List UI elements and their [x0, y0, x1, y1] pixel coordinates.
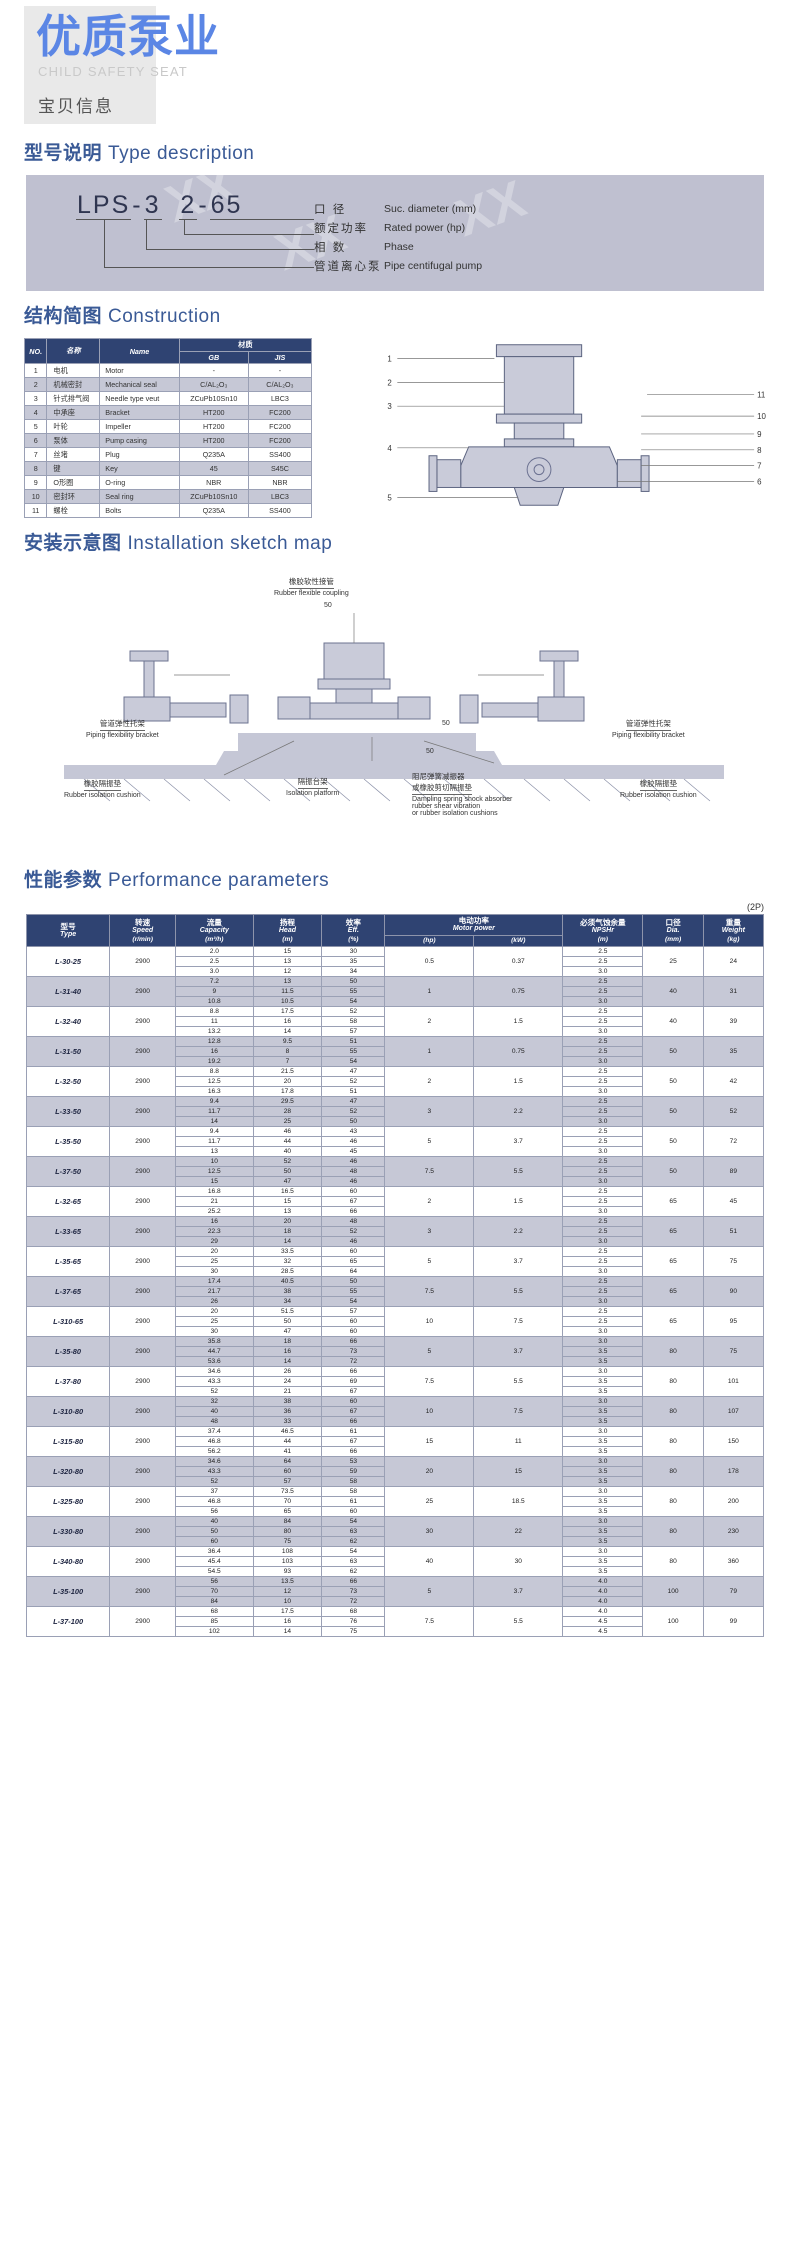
cell-capacity: 25 — [176, 1317, 253, 1327]
table-row: L-33-65290016204832.22.56551 — [27, 1217, 764, 1227]
cell-diameter: 50 — [643, 1067, 703, 1097]
label-en: Dampling spring shock absorber rubber sh… — [412, 796, 512, 817]
cell-npshr: 2.5 — [563, 987, 643, 997]
section-title-en: Installation sketch map — [128, 533, 333, 554]
cell-type: L-35-100 — [27, 1577, 110, 1607]
cell-npshr: 4.0 — [563, 1597, 643, 1607]
legend-label-en: Suc. diameter (mm) — [384, 203, 476, 215]
cell-type: L-31-40 — [27, 977, 110, 1007]
table-row: 3针式排气阀Needle type veutZCuPb10Sn10LBC3 — [25, 392, 312, 406]
table-row: L-35-6529002033.56053.72.56575 — [27, 1247, 764, 1257]
cell-motor-power-hp: 7.5 — [385, 1277, 474, 1307]
cell-type: L-320-80 — [27, 1457, 110, 1487]
label-cn: 管道弹性托架 — [626, 718, 671, 731]
cell-diameter: 65 — [643, 1217, 703, 1247]
cell-type: L-340-80 — [27, 1547, 110, 1577]
cell-head: 65 — [253, 1507, 322, 1517]
cell-type: L-37-80 — [27, 1367, 110, 1397]
cell-diameter: 100 — [643, 1607, 703, 1637]
cell-efficiency: 48 — [322, 1217, 385, 1227]
cell-jis: SS400 — [248, 504, 311, 518]
cell-efficiency: 67 — [322, 1387, 385, 1397]
cell-capacity: 44.7 — [176, 1347, 253, 1357]
cell-capacity: 8.8 — [176, 1067, 253, 1077]
cell-diameter: 80 — [643, 1457, 703, 1487]
cell-weight: 79 — [703, 1577, 763, 1607]
cell-head: 13 — [253, 957, 322, 967]
table-row: 6泵体Pump casingHT200FC200 — [25, 434, 312, 448]
cell-head: 46 — [253, 1127, 322, 1137]
cell-head: 15 — [253, 947, 322, 957]
cell-head: 41 — [253, 1447, 322, 1457]
legend-label-cn: 管道离心泵 — [314, 258, 384, 274]
cell-npshr: 3.5 — [563, 1417, 643, 1427]
cell-no: 5 — [25, 420, 47, 434]
type-legend-item: 额定功率 Rated power (hp) — [314, 218, 482, 237]
cell-efficiency: 73 — [322, 1587, 385, 1597]
cell-efficiency: 62 — [322, 1567, 385, 1577]
cell-speed: 2900 — [110, 1247, 176, 1277]
label-cn: 橡胶软性接管 — [289, 576, 334, 589]
cell-motor-power-kw: 5.5 — [474, 1367, 563, 1397]
cell-weight: 39 — [703, 1007, 763, 1037]
cell-diameter: 65 — [643, 1187, 703, 1217]
cell-head: 14 — [253, 1027, 322, 1037]
brand-title-cn: 优质泵业 — [36, 12, 220, 62]
cell-npshr: 3.0 — [563, 1267, 643, 1277]
cell-npshr: 3.5 — [563, 1497, 643, 1507]
cell-no: 11 — [25, 504, 47, 518]
cell-npshr: 3.0 — [563, 1297, 643, 1307]
cell-npshr: 2.5 — [563, 1047, 643, 1057]
cell-weight: 90 — [703, 1277, 763, 1307]
cell-efficiency: 54 — [322, 1547, 385, 1557]
cell-motor-power-hp: 2 — [385, 1187, 474, 1217]
cell-gb: HT200 — [179, 434, 248, 448]
cell-motor-power-hp: 5 — [385, 1577, 474, 1607]
table-row: L-37-10029006817.5687.55.54.010099 — [27, 1607, 764, 1617]
legend-label-cn: 相 数 — [314, 239, 384, 255]
cell-head: 52 — [253, 1157, 322, 1167]
cell-motor-power-kw: 3.7 — [474, 1577, 563, 1607]
cell-weight: 107 — [703, 1397, 763, 1427]
cell-cn: 键 — [47, 462, 100, 476]
cell-diameter: 80 — [643, 1517, 703, 1547]
cell-capacity: 52 — [176, 1477, 253, 1487]
cell-npshr: 2.5 — [563, 1317, 643, 1327]
leader-vertical-2 — [184, 219, 185, 234]
cell-head: 57 — [253, 1477, 322, 1487]
cell-jis: S45C — [248, 462, 311, 476]
cell-efficiency: 67 — [322, 1197, 385, 1207]
section-heading-installation: 安装示意图Installation sketch map — [24, 528, 790, 555]
cell-capacity: 9.4 — [176, 1127, 253, 1137]
cell-capacity: 30 — [176, 1267, 253, 1277]
th-name-en: Name — [100, 339, 179, 364]
th-head: 扬程 Head (m) — [253, 915, 322, 947]
cell-head: 25 — [253, 1117, 322, 1127]
section-heading-construction: 结构简图Construction — [24, 301, 790, 328]
cell-efficiency: 46 — [322, 1137, 385, 1147]
cell-head: 38 — [253, 1397, 322, 1407]
cell-type: L-32-50 — [27, 1067, 110, 1097]
pole-note: (2P) — [0, 902, 764, 912]
table-row: L-320-80290034.6645320153.080178 — [27, 1457, 764, 1467]
cell-type: L-35-80 — [27, 1337, 110, 1367]
cell-capacity: 40 — [176, 1407, 253, 1417]
cell-capacity: 84 — [176, 1597, 253, 1607]
cell-jis: LBC3 — [248, 392, 311, 406]
cell-efficiency: 60 — [322, 1187, 385, 1197]
cell-npshr: 3.5 — [563, 1347, 643, 1357]
cell-efficiency: 61 — [322, 1497, 385, 1507]
cell-cn: O形圈 — [47, 476, 100, 490]
table-row: L-340-80290036.41085440303.080360 — [27, 1547, 764, 1557]
cell-efficiency: 55 — [322, 987, 385, 997]
cell-capacity: 21 — [176, 1197, 253, 1207]
cell-head: 33.5 — [253, 1247, 322, 1257]
cell-capacity: 13.2 — [176, 1027, 253, 1037]
cell-head: 80 — [253, 1527, 322, 1537]
cell-jis: FC200 — [248, 420, 311, 434]
th-npshr: 必须气蚀余量 NPSHr (m) — [563, 915, 643, 947]
install-label-damping-spring: 阻尼弹簧减振器 或橡胶剪切隔振垫 Dampling spring shock a… — [412, 771, 512, 817]
cell-efficiency: 43 — [322, 1127, 385, 1137]
cell-gb: Q235A — [179, 448, 248, 462]
cell-speed: 2900 — [110, 1067, 176, 1097]
th-capacity: 流量 Capacity (m³/h) — [176, 915, 253, 947]
cell-cn: 泵体 — [47, 434, 100, 448]
cell-npshr: 3.5 — [563, 1477, 643, 1487]
cell-head: 17.5 — [253, 1007, 322, 1017]
cell-npshr: 3.0 — [563, 1147, 643, 1157]
cell-type: L-32-40 — [27, 1007, 110, 1037]
cell-npshr: 3.0 — [563, 1487, 643, 1497]
cell-motor-power-kw: 22 — [474, 1517, 563, 1547]
cell-npshr: 3.5 — [563, 1407, 643, 1417]
cell-head: 32 — [253, 1257, 322, 1267]
cell-head: 60 — [253, 1467, 322, 1477]
cell-efficiency: 52 — [322, 1107, 385, 1117]
leader-vertical-4 — [104, 219, 105, 267]
label-en: Rubber isolation cushion — [620, 792, 697, 799]
install-label-rubber-cushion-left: 橡胶隔振垫 Rubber isolation cushion — [64, 773, 141, 799]
section-heading-performance: 性能参数Performance parameters — [24, 865, 790, 892]
cell-head: 103 — [253, 1557, 322, 1567]
cell-capacity: 10 — [176, 1157, 253, 1167]
cell-npshr: 4.5 — [563, 1617, 643, 1627]
cell-motor-power-hp: 30 — [385, 1517, 474, 1547]
cell-capacity: 54.5 — [176, 1567, 253, 1577]
cell-motor-power-kw: 0.37 — [474, 947, 563, 977]
construction-table-head: NO. 名称 Name 材质 GB JIS — [25, 339, 312, 364]
cell-capacity: 19.2 — [176, 1057, 253, 1067]
cell-efficiency: 46 — [322, 1177, 385, 1187]
cell-npshr: 3.0 — [563, 997, 643, 1007]
cell-npshr: 3.0 — [563, 1177, 643, 1187]
cell-motor-power-hp: 2 — [385, 1007, 474, 1037]
cell-npshr: 2.5 — [563, 1197, 643, 1207]
type-code-text: LPS-3 2-65 — [76, 191, 243, 220]
table-row: L-35-5029009.4464353.72.55072 — [27, 1127, 764, 1137]
cell-npshr: 3.5 — [563, 1387, 643, 1397]
cell-npshr: 2.5 — [563, 947, 643, 957]
cell-cn: 针式排气阀 — [47, 392, 100, 406]
cell-cn: 丝堵 — [47, 448, 100, 462]
cell-weight: 89 — [703, 1157, 763, 1187]
cell-npshr: 2.5 — [563, 1217, 643, 1227]
cell-en: Needle type veut — [100, 392, 179, 406]
cell-head: 13.5 — [253, 1577, 322, 1587]
cell-speed: 2900 — [110, 1007, 176, 1037]
cell-en: Key — [100, 462, 179, 476]
cell-capacity: 48 — [176, 1417, 253, 1427]
cell-speed: 2900 — [110, 947, 176, 977]
leader-horizontal-4 — [104, 267, 314, 268]
cell-capacity: 16.8 — [176, 1187, 253, 1197]
cell-motor-power-kw: 3.7 — [474, 1247, 563, 1277]
cell-npshr: 3.0 — [563, 967, 643, 977]
cell-type: L-37-100 — [27, 1607, 110, 1637]
cell-head: 8 — [253, 1047, 322, 1057]
cell-npshr: 2.5 — [563, 1007, 643, 1017]
cell-diameter: 65 — [643, 1247, 703, 1277]
install-label-rubber-coupling: 橡胶软性接管 Rubber flexible coupling — [274, 571, 349, 597]
brand-header: 优质泵业 CHILD SAFETY SEAT 宝贝信息 — [0, 0, 790, 128]
cell-type: L-37-65 — [27, 1277, 110, 1307]
cell-efficiency: 48 — [322, 1167, 385, 1177]
cell-type: L-33-65 — [27, 1217, 110, 1247]
cell-capacity: 13 — [176, 1147, 253, 1157]
cell-diameter: 50 — [643, 1157, 703, 1187]
cell-weight: 95 — [703, 1307, 763, 1337]
cell-efficiency: 52 — [322, 1007, 385, 1017]
th-motor-power-hp: (hp) — [385, 936, 474, 947]
cell-capacity: 35.8 — [176, 1337, 253, 1347]
cell-head: 12 — [253, 1587, 322, 1597]
cell-jis: SS400 — [248, 448, 311, 462]
cell-npshr: 2.5 — [563, 1287, 643, 1297]
cell-npshr: 3.5 — [563, 1527, 643, 1537]
cell-efficiency: 60 — [322, 1397, 385, 1407]
cell-capacity: 7.2 — [176, 977, 253, 987]
cell-efficiency: 30 — [322, 947, 385, 957]
cell-capacity: 37.4 — [176, 1427, 253, 1437]
table-row: L-325-8029003773.5582518.53.080200 — [27, 1487, 764, 1497]
table-row: 4中承座BracketHT200FC200 — [25, 406, 312, 420]
cell-head: 21 — [253, 1387, 322, 1397]
cell-capacity: 60 — [176, 1537, 253, 1547]
svg-text:4: 4 — [387, 444, 392, 453]
cell-motor-power-kw: 7.5 — [474, 1307, 563, 1337]
cell-head: 73.5 — [253, 1487, 322, 1497]
table-row: 7丝堵PlugQ235ASS400 — [25, 448, 312, 462]
cell-type: L-310-80 — [27, 1397, 110, 1427]
cell-diameter: 40 — [643, 1007, 703, 1037]
cell-efficiency: 61 — [322, 1427, 385, 1437]
cell-motor-power-kw: 15 — [474, 1457, 563, 1487]
cell-head: 13 — [253, 1207, 322, 1217]
cell-motor-power-kw: 30 — [474, 1547, 563, 1577]
cell-efficiency: 34 — [322, 967, 385, 977]
cell-capacity: 34.6 — [176, 1367, 253, 1377]
svg-text:1: 1 — [387, 355, 392, 364]
cell-weight: 52 — [703, 1097, 763, 1127]
construction-table: NO. 名称 Name 材质 GB JIS 1电机Motor--2机械密封Mec… — [24, 338, 312, 518]
construction-figure: 12 34 5 1110 98 76 — [320, 338, 766, 516]
legend-label-en: Pipe centifugal pump — [384, 260, 482, 272]
cell-speed: 2900 — [110, 1607, 176, 1637]
table-row: 5叶轮ImpellerHT200FC200 — [25, 420, 312, 434]
code-series: LPS — [76, 191, 131, 220]
cell-efficiency: 66 — [322, 1417, 385, 1427]
cell-efficiency: 55 — [322, 1287, 385, 1297]
cell-capacity: 16 — [176, 1047, 253, 1057]
cell-npshr: 3.0 — [563, 1207, 643, 1217]
cell-head: 75 — [253, 1537, 322, 1547]
cell-efficiency: 54 — [322, 1517, 385, 1527]
cell-head: 84 — [253, 1517, 322, 1527]
code-phase: 2 — [179, 191, 197, 220]
cell-motor-power-hp: 10 — [385, 1397, 474, 1427]
cell-capacity: 20 — [176, 1307, 253, 1317]
performance-table-head: 型号 Type 转速 Speed (r/min) 流量 Capacity (m³… — [27, 915, 764, 947]
cell-efficiency: 46 — [322, 1157, 385, 1167]
cell-capacity: 43.3 — [176, 1377, 253, 1387]
cell-capacity: 16.3 — [176, 1087, 253, 1097]
code-dash-2: - — [197, 191, 209, 219]
cell-capacity: 2.0 — [176, 947, 253, 957]
cell-gb: Q235A — [179, 504, 248, 518]
cell-head: 28.5 — [253, 1267, 322, 1277]
cell-npshr: 3.5 — [563, 1377, 643, 1387]
leader-horizontal-2 — [184, 234, 314, 235]
cell-speed: 2900 — [110, 1187, 176, 1217]
brand-title-en: CHILD SAFETY SEAT — [38, 64, 188, 79]
installation-sketch: 50 50 50 橡胶软性接管 Rubber flexible coupling… — [24, 565, 766, 855]
cell-weight: 150 — [703, 1427, 763, 1457]
cell-motor-power-hp: 40 — [385, 1547, 474, 1577]
cell-speed: 2900 — [110, 1217, 176, 1247]
cell-efficiency: 54 — [322, 1297, 385, 1307]
label-en: Rubber isolation cushion — [64, 792, 141, 799]
cell-speed: 2900 — [110, 1277, 176, 1307]
cell-efficiency: 60 — [322, 1247, 385, 1257]
table-row: L-37-65290017.440.5507.55.52.56590 — [27, 1277, 764, 1287]
cell-npshr: 2.5 — [563, 1187, 643, 1197]
th-motor-power: 电动功率 Motor power — [385, 915, 563, 936]
cell-capacity: 45.4 — [176, 1557, 253, 1567]
label-en: Piping flexibility bracket — [612, 732, 685, 739]
performance-header-row-1: 型号 Type 转速 Speed (r/min) 流量 Capacity (m³… — [27, 915, 764, 936]
performance-table-body: L-30-2529002.015300.50.372.525242.513352… — [27, 947, 764, 1637]
cell-diameter: 50 — [643, 1127, 703, 1157]
cell-efficiency: 54 — [322, 1057, 385, 1067]
table-row: L-35-10029005613.56653.74.010079 — [27, 1577, 764, 1587]
cell-capacity: 46.8 — [176, 1497, 253, 1507]
cell-capacity: 12.5 — [176, 1167, 253, 1177]
cell-capacity: 20 — [176, 1247, 253, 1257]
cell-npshr: 3.5 — [563, 1507, 643, 1517]
cell-efficiency: 76 — [322, 1617, 385, 1627]
cell-capacity: 68 — [176, 1607, 253, 1617]
cell-gb: 45 — [179, 462, 248, 476]
cell-efficiency: 60 — [322, 1507, 385, 1517]
cell-capacity: 52 — [176, 1387, 253, 1397]
table-row: L-32-4029008.817.55221.52.54039 — [27, 1007, 764, 1017]
cell-weight: 230 — [703, 1517, 763, 1547]
cell-head: 20 — [253, 1077, 322, 1087]
cell-weight: 42 — [703, 1067, 763, 1097]
cell-gb: - — [179, 364, 248, 378]
svg-text:5: 5 — [387, 493, 392, 502]
cell-efficiency: 62 — [322, 1537, 385, 1547]
table-row: L-32-5029008.821.54721.52.55042 — [27, 1067, 764, 1077]
cell-speed: 2900 — [110, 1307, 176, 1337]
dim-50-left: 50 — [324, 602, 332, 609]
cell-npshr: 3.5 — [563, 1437, 643, 1447]
cell-speed: 2900 — [110, 1577, 176, 1607]
cell-efficiency: 75 — [322, 1627, 385, 1637]
cell-head: 44 — [253, 1137, 322, 1147]
cell-efficiency: 58 — [322, 1477, 385, 1487]
table-row: L-310-6529002051.557107.52.56595 — [27, 1307, 764, 1317]
cell-motor-power-hp: 5 — [385, 1247, 474, 1277]
th-type: 型号 Type — [27, 915, 110, 947]
cell-motor-power-kw: 11 — [474, 1427, 563, 1457]
cell-weight: 35 — [703, 1037, 763, 1067]
install-label-rubber-cushion-right: 橡胶隔振垫 Rubber isolation cushion — [620, 773, 697, 799]
cell-diameter: 80 — [643, 1397, 703, 1427]
cell-npshr: 2.5 — [563, 1107, 643, 1117]
svg-text:3: 3 — [387, 402, 392, 411]
cell-capacity: 16 — [176, 1217, 253, 1227]
dim-50-right: 50 — [426, 748, 434, 755]
cell-head: 50 — [253, 1317, 322, 1327]
cell-head: 40.5 — [253, 1277, 322, 1287]
svg-text:8: 8 — [757, 446, 762, 455]
cell-diameter: 80 — [643, 1427, 703, 1457]
cell-npshr: 3.0 — [563, 1367, 643, 1377]
cell-head: 16 — [253, 1617, 322, 1627]
cell-weight: 99 — [703, 1607, 763, 1637]
cell-speed: 2900 — [110, 1397, 176, 1427]
cell-efficiency: 65 — [322, 1257, 385, 1267]
cell-head: 14 — [253, 1237, 322, 1247]
cell-motor-power-hp: 7.5 — [385, 1607, 474, 1637]
cell-head: 34 — [253, 1297, 322, 1307]
cell-diameter: 65 — [643, 1277, 703, 1307]
cell-motor-power-kw: 2.2 — [474, 1217, 563, 1247]
cell-efficiency: 66 — [322, 1447, 385, 1457]
cell-capacity: 3.0 — [176, 967, 253, 977]
cell-capacity: 56 — [176, 1507, 253, 1517]
cell-motor-power-kw: 3.7 — [474, 1337, 563, 1367]
cell-npshr: 3.0 — [563, 1427, 643, 1437]
cell-no: 6 — [25, 434, 47, 448]
cell-cn: 电机 — [47, 364, 100, 378]
cell-type: L-33-50 — [27, 1097, 110, 1127]
cell-no: 9 — [25, 476, 47, 490]
cell-no: 10 — [25, 490, 47, 504]
leader-horizontal-1 — [222, 219, 314, 220]
cell-en: Mechanical seal — [100, 378, 179, 392]
cell-efficiency: 60 — [322, 1327, 385, 1337]
table-row: 2机械密封Mechanical sealC/AL₂O₃C/AL₂O₃ — [25, 378, 312, 392]
cell-efficiency: 72 — [322, 1357, 385, 1367]
cell-npshr: 2.5 — [563, 1167, 643, 1177]
cell-capacity: 102 — [176, 1627, 253, 1637]
